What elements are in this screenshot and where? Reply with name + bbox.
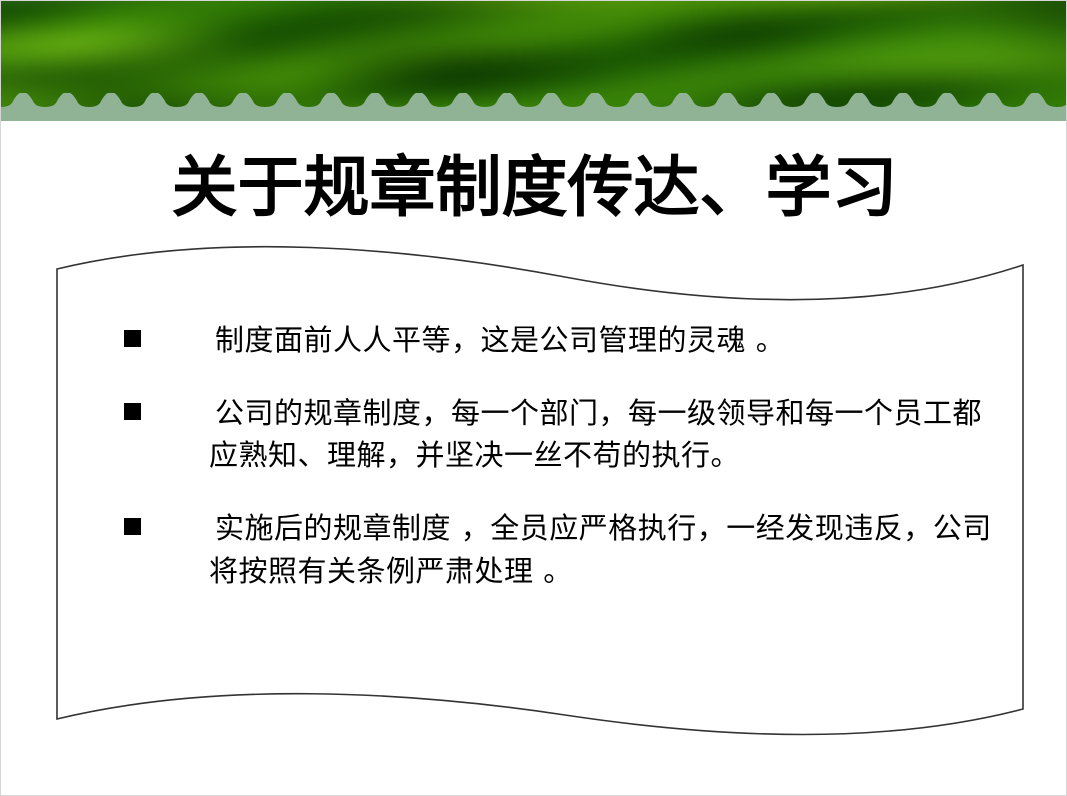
list-item: 制度面前人人平等，这是公司管理的灵魂 。 <box>111 319 1011 362</box>
list-item-text: 公司的规章制度，每一个部门，每一级领导和每一个员工都应熟知、理解，并坚决一丝不苟… <box>111 392 1011 477</box>
list-item-text: 实施后的规章制度 ，全员应严格执行，一经发现违反，公司将按照有关条例严肃处理 。 <box>111 507 1011 592</box>
list-item: 公司的规章制度，每一个部门，每一级领导和每一个员工都应熟知、理解，并坚决一丝不苟… <box>111 392 1011 477</box>
square-bullet-icon <box>124 403 141 420</box>
square-bullet-icon <box>124 330 141 347</box>
scalloped-divider <box>1 93 1067 121</box>
square-bullet-icon <box>124 518 141 535</box>
bullet-list: 制度面前人人平等，这是公司管理的灵魂 。 公司的规章制度，每一个部门，每一级领导… <box>111 319 1011 592</box>
slide-title: 关于规章制度传达、学习 <box>1 154 1067 223</box>
list-item-text: 制度面前人人平等，这是公司管理的灵魂 。 <box>111 319 1011 362</box>
presentation-slide: 关于规章制度传达、学习 制度面前人人平等，这是公司管理的灵魂 。 公司的规章制度… <box>0 0 1067 796</box>
list-item: 实施后的规章制度 ，全员应严格执行，一经发现违反，公司将按照有关条例严肃处理 。 <box>111 507 1011 592</box>
